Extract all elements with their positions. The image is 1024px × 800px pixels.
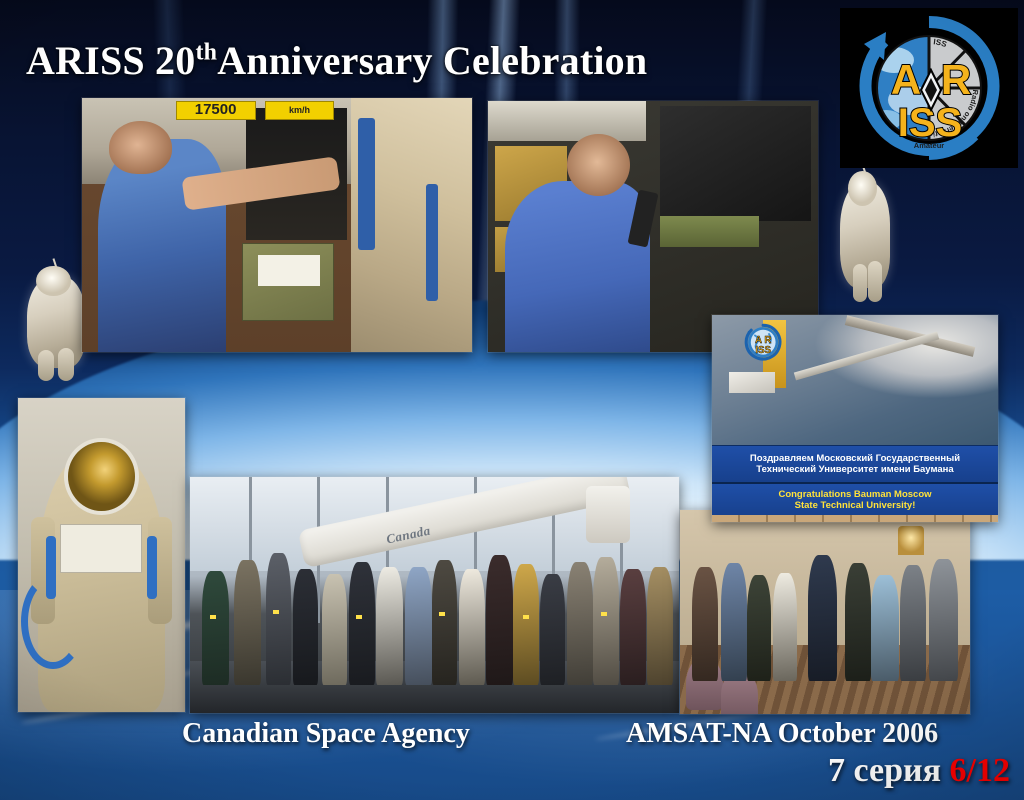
bauman-russian-line-1: Поздравляем Московский Государственный — [750, 453, 960, 464]
photo-iss-crew-equipment: 17500 km/h — [82, 98, 472, 352]
bauman-banner-russian-text: Поздравляем Московский Государственный Т… — [712, 445, 998, 481]
ariss-logo-small: A R ISS — [726, 320, 800, 364]
ariss-logo: ISS Radio on International Amateur A R I… — [840, 8, 1018, 168]
bauman-russian-line-2: Технический Университет имени Баумана — [750, 464, 960, 475]
photo-amsat-group — [680, 510, 970, 714]
title-superscript: th — [195, 40, 217, 66]
chest-control-panel — [60, 524, 142, 573]
series-number: 6/12 — [950, 752, 1010, 789]
bauman-english-line-1: Congratulations Bauman Moscow — [778, 489, 931, 500]
suitsat-right — [826, 162, 904, 308]
helmet-visor — [68, 442, 135, 511]
svg-text:ISS: ISS — [756, 345, 772, 356]
bauman-english-line-2: State Technical University! — [778, 500, 931, 511]
series-label: 7 серия — [828, 752, 941, 789]
suitsat-helmet — [36, 266, 71, 297]
poster-slide: 17500 km/h — [0, 0, 1024, 800]
title-rest: Anniversary Celebration — [217, 38, 647, 83]
speed-sign-17500: 17500 — [176, 101, 256, 120]
caption-series: 7 серия 6/12 — [828, 752, 1010, 790]
suitsat-helmet — [848, 171, 878, 206]
caption-amsat-na-october-2006: AMSAT-NA October 2006 — [626, 718, 938, 750]
speed-sign-unit: km/h — [265, 101, 333, 120]
svg-text:A: A — [891, 56, 921, 103]
title-main: ARISS 20 — [26, 38, 195, 83]
wall-sconce-lamp — [898, 526, 924, 555]
bauman-banner-english-text: Congratulations Bauman Moscow State Tech… — [712, 482, 998, 517]
photo-bauman-banner: A R ISS Поздравляем Московский Государст… — [712, 315, 998, 522]
svg-text:R: R — [941, 56, 971, 103]
photo-csa-group: Canada — [190, 477, 679, 713]
page-title: ARISS 20thAnniversary Celebration — [26, 37, 647, 84]
caption-canadian-space-agency: Canadian Space Agency — [182, 718, 470, 750]
photo-orlan-spacesuit — [18, 398, 185, 712]
